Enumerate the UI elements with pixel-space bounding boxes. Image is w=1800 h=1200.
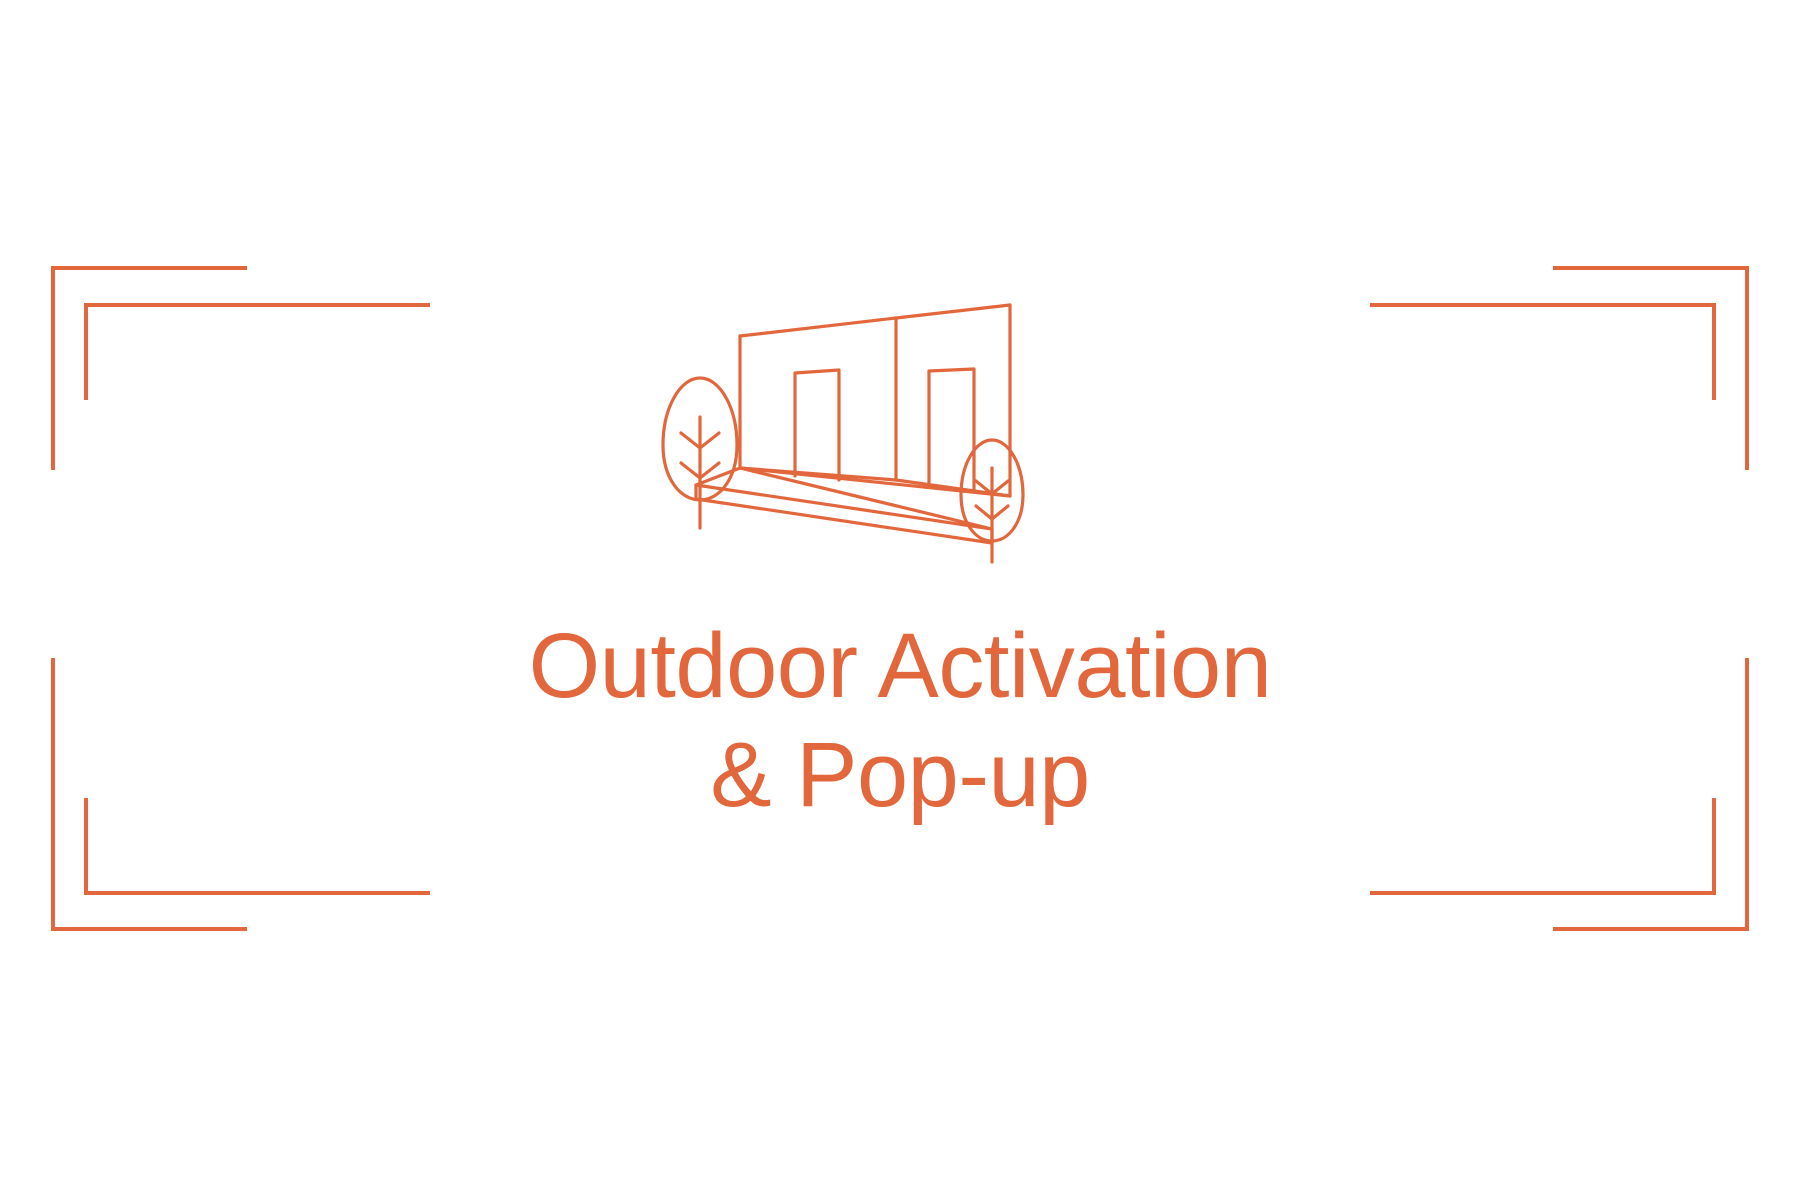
bracket-top-right-outer	[1553, 268, 1747, 470]
tree-right-icon	[961, 440, 1023, 562]
tree-left-branch-1l	[681, 433, 700, 448]
bracket-top-left-inner	[86, 305, 430, 400]
tree-right-branch-2l	[976, 506, 992, 519]
bracket-top-right-inner	[1370, 305, 1714, 400]
tree-left-branch-2l	[681, 463, 700, 478]
page-title-line-1: Outdoor Activation	[0, 612, 1800, 721]
outdoor-pavilion-illustration	[640, 300, 1160, 600]
page-title: Outdoor Activation & Pop-up	[0, 612, 1800, 829]
bracket-top-left-outer	[53, 268, 247, 470]
page-title-line-2: & Pop-up	[0, 721, 1800, 830]
wall-panel-left	[740, 318, 896, 480]
doorway-left	[795, 370, 839, 480]
wall-left-top	[740, 318, 896, 336]
tree-left-branch-1r	[700, 433, 719, 448]
tree-right-branch-2r	[992, 506, 1008, 519]
tree-left-icon	[663, 378, 737, 528]
walkway-inner-edge	[740, 468, 1010, 496]
slide-canvas: Outdoor Activation & Pop-up	[0, 0, 1800, 1200]
wall-right-top	[896, 305, 1010, 318]
corner-bracket-frame	[0, 0, 1800, 1200]
tree-right-branch-1r	[992, 481, 1008, 494]
doorway-right	[929, 369, 974, 490]
